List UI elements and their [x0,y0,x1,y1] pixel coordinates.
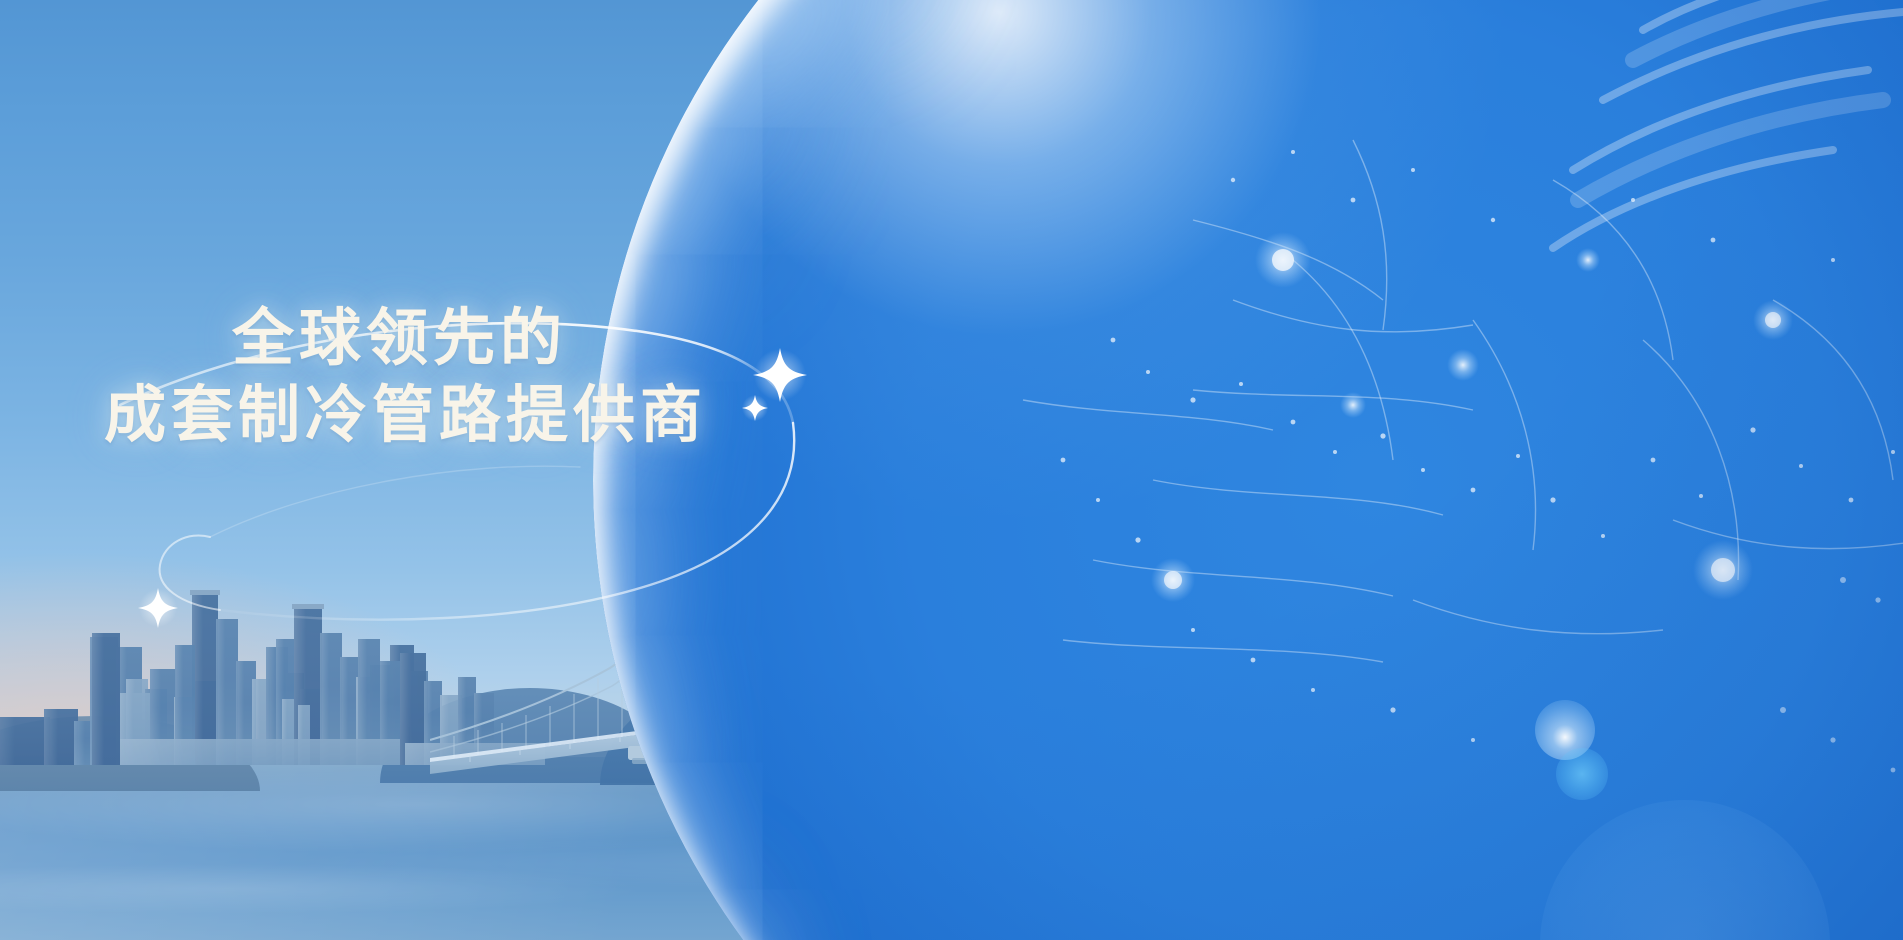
hero-banner: 全球领先的 成套制冷管路提供商 [0,0,1903,940]
lens-flare-cyan [1556,748,1608,800]
headline-line-2: 成套制冷管路提供商 [104,377,864,454]
sparkle-lower-left-icon [138,588,178,628]
headline-line-1: 全球领先的 [232,300,864,377]
hero-headline: 全球领先的 成套制冷管路提供商 [104,300,864,454]
